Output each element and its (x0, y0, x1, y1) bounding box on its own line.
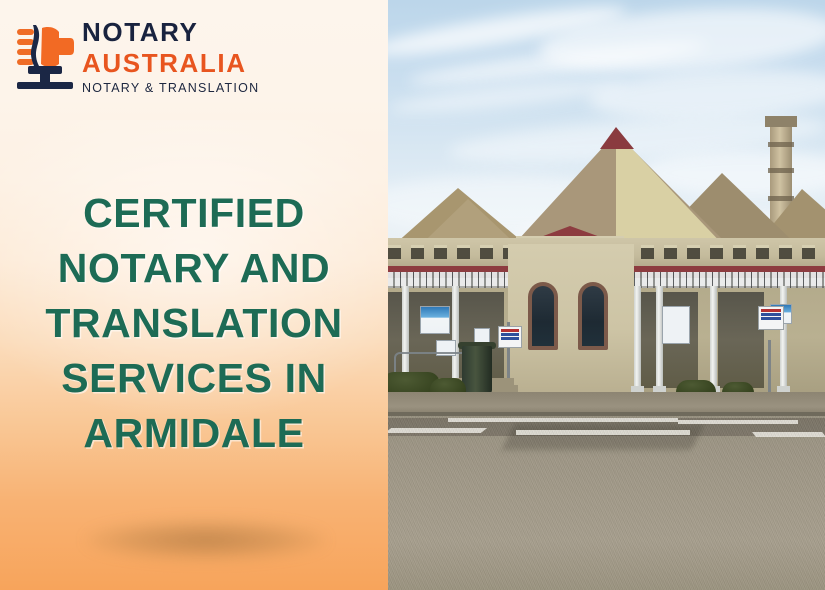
road-cast-shadow (502, 424, 705, 450)
ground-shadow-ellipse (86, 520, 326, 560)
dentil (457, 245, 470, 259)
dentil (434, 245, 447, 259)
chimney-cap (765, 116, 797, 127)
dentil (733, 245, 746, 259)
dentil (480, 245, 493, 259)
dentil (710, 245, 723, 259)
left-content-panel: NOTARY AUSTRALIA NOTARY & TRANSLATION CE… (0, 0, 388, 590)
dentil (802, 245, 815, 259)
logo-tagline: NOTARY & TRANSLATION (82, 82, 259, 95)
projecting-bay (508, 244, 634, 398)
dentil (411, 245, 424, 259)
sign-line (501, 333, 519, 336)
dentil (388, 245, 401, 259)
headline-line-3: TRANSLATION (0, 296, 388, 351)
sign-line (501, 337, 519, 340)
arched-window (528, 282, 558, 350)
sign-line (761, 317, 781, 320)
parking-sign (498, 326, 522, 348)
headline-line-1: CERTIFIED (0, 186, 388, 241)
building-photo (388, 0, 825, 590)
sign-line (761, 309, 781, 312)
dentil (664, 245, 677, 259)
headline-line-4: SERVICES IN (0, 351, 388, 406)
logo-line-australia: AUSTRALIA (82, 50, 259, 76)
verandah-column (634, 286, 641, 388)
verandah-column (780, 286, 787, 388)
dentil (641, 245, 654, 259)
road-line-marking (516, 430, 690, 435)
road-line-marking (448, 418, 678, 422)
brand-logo[interactable]: NOTARY AUSTRALIA NOTARY & TRANSLATION (14, 19, 259, 95)
dentil (756, 245, 769, 259)
dentil (687, 245, 700, 259)
sign-line (501, 329, 519, 332)
road-line-marking (388, 428, 487, 433)
parking-sign (758, 306, 784, 330)
headline-line-5: ARMIDALE (0, 406, 388, 461)
headline-line-2: NOTARY AND (0, 241, 388, 296)
logo-line-notary: NOTARY (82, 19, 259, 45)
road-line-marking (678, 420, 798, 424)
verandah-column (710, 286, 717, 388)
notary-stamp-seal-icon (14, 20, 76, 94)
noticeboard-poster (662, 306, 690, 344)
promo-banner: NOTARY AUSTRALIA NOTARY & TRANSLATION CE… (0, 0, 825, 590)
headline: CERTIFIED NOTARY AND TRANSLATION SERVICE… (0, 186, 388, 461)
arched-window (578, 282, 608, 350)
dentil (779, 245, 792, 259)
wall-poster (420, 306, 450, 334)
logo-wordmark: NOTARY AUSTRALIA NOTARY & TRANSLATION (82, 19, 259, 95)
sign-line (761, 313, 781, 316)
roof-finial-cap (600, 127, 634, 149)
chimney-band (768, 142, 794, 147)
road-line-marking (752, 432, 825, 437)
wheelie-bin (462, 346, 492, 394)
